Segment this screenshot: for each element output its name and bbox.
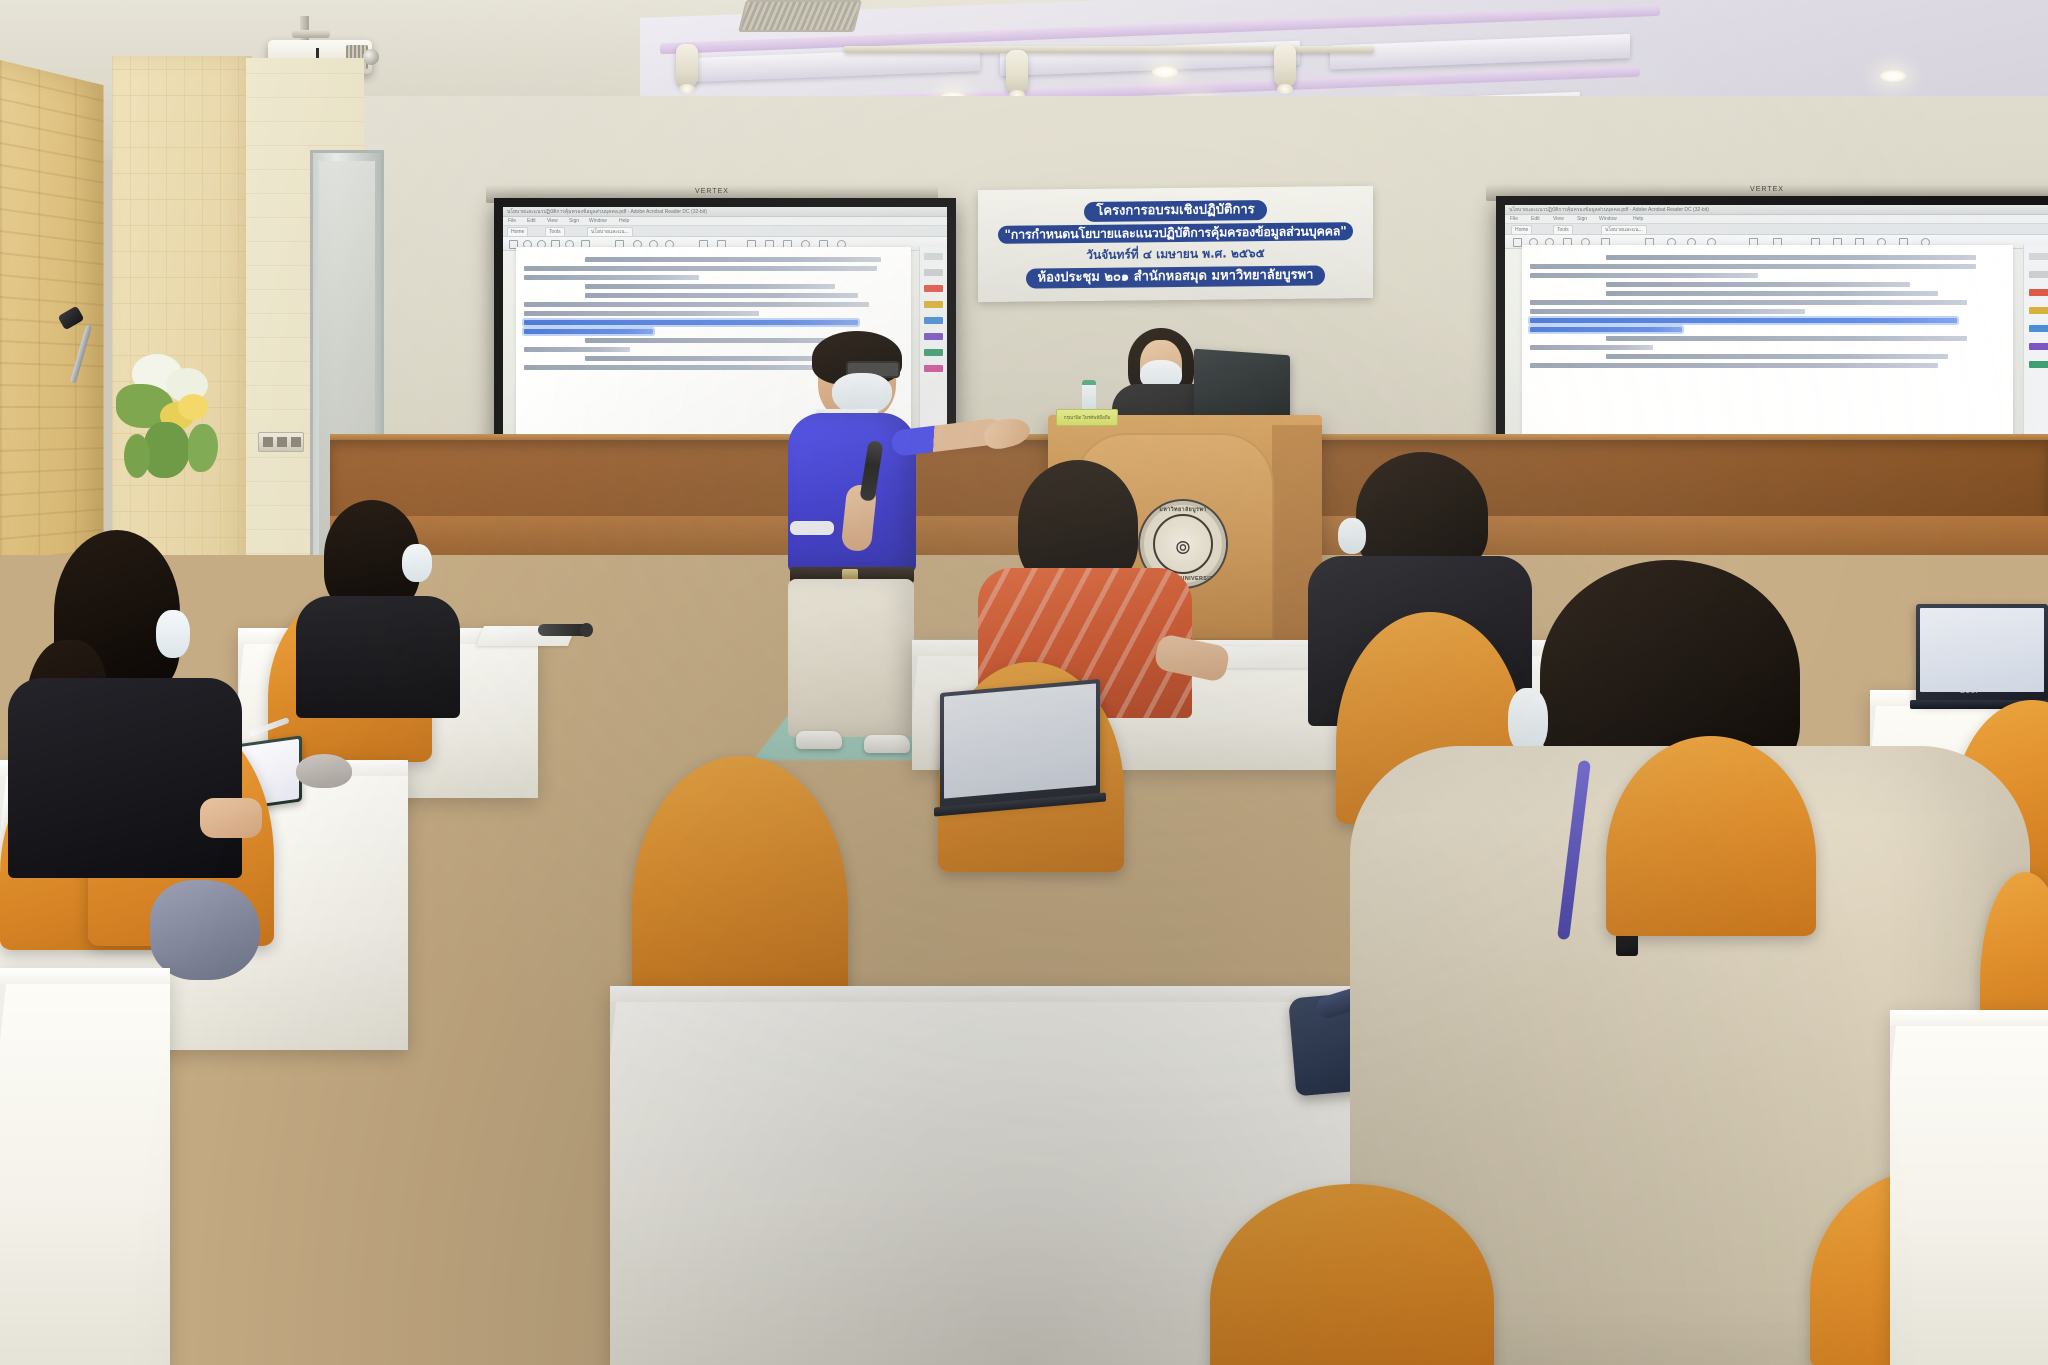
podium-notice-sign: กรุณาปิด โทรศัพท์มือถือ	[1056, 409, 1118, 426]
table-front-right	[1890, 1010, 2048, 1365]
face-mask-icon	[402, 544, 432, 582]
wall-outlet[interactable]	[258, 432, 304, 452]
pdf-menubar: File Edit View Sign Window Help	[503, 217, 947, 226]
projector-lens	[363, 49, 379, 65]
menu-window[interactable]: Window	[1599, 216, 1617, 222]
attendee-2	[292, 500, 462, 700]
banner-line-1: โครงการอบรมเชิงปฏิบัติการ	[1084, 200, 1266, 221]
ac-vent	[738, 0, 862, 32]
tab-tools[interactable]: Tools	[1553, 225, 1573, 235]
grey-pouch	[296, 754, 352, 788]
mic-neck	[70, 324, 92, 383]
attendee-torso	[296, 596, 460, 718]
mic-capsule-icon	[57, 306, 84, 331]
downlight	[1152, 66, 1178, 78]
presenter-shoe-left	[796, 731, 842, 749]
banner-line-2: "การกำหนดนโยบายและแนวปฏิบัติการคุ้มครองข…	[998, 222, 1352, 245]
pdf-menubar: File Edit View Sign Window Help	[1505, 215, 2048, 224]
laptop-screen	[944, 683, 1096, 798]
tab-home[interactable]: Home	[507, 227, 528, 237]
flower-arrangement	[108, 350, 238, 490]
face-mask-icon	[156, 610, 190, 658]
projector-arm	[292, 30, 330, 38]
track-light[interactable]	[1274, 44, 1296, 88]
track-light[interactable]	[1006, 50, 1028, 94]
rail-icon-edit[interactable]	[2029, 289, 2048, 296]
pdf-tabbar: Home Tools นโยบายและแน...	[1505, 224, 2048, 235]
track-light[interactable]	[676, 44, 698, 88]
table-front-left	[0, 968, 170, 1365]
pdf-document-title: นโยบายและแนวปฏิบัติการคุ้มครองข้อมูลส่วน…	[507, 208, 707, 216]
rail-icon-create[interactable]	[2029, 271, 2048, 278]
seminar-room-photo: VERTEX นโยบายและแนวปฏิบัติการคุ้มครองข้อ…	[0, 0, 2048, 1365]
tab-tools[interactable]: Tools	[545, 227, 565, 237]
screen-brand-label: VERTEX	[1750, 186, 1784, 193]
rail-icon-comment[interactable]	[2029, 307, 2048, 314]
attendee-torso	[8, 678, 242, 878]
rail-icon-combine[interactable]	[924, 317, 943, 324]
presenter-shoe-right	[864, 735, 910, 753]
table-top	[1890, 1010, 2048, 1026]
attendee-1	[8, 530, 258, 850]
pdf-titlebar: นโยบายและแนวปฏิบัติการคุ้มครองข้อมูลส่วน…	[503, 207, 947, 217]
laptop-centre[interactable]	[940, 679, 1100, 809]
tablecloth	[1890, 1026, 2048, 1365]
banner-line-4: ห้องประชุม ๒๐๑ สำนักหอสมุด มหาวิทยาลัยบู…	[1026, 266, 1326, 289]
menu-file[interactable]: File	[1510, 216, 1518, 222]
banner-line-3: วันจันทร์ที่ ๔ เมษายน พ.ศ. ๒๕๖๕	[1086, 245, 1264, 266]
rail-icon-export[interactable]	[2029, 253, 2048, 260]
pdf-document-title: นโยบายและแนวปฏิบัติการคุ้มครองข้อมูลส่วน…	[1509, 206, 1709, 214]
rail-icon-export[interactable]	[924, 253, 943, 260]
face-mask-icon	[1508, 688, 1548, 754]
downlight	[1880, 70, 1906, 82]
event-banner: โครงการอบรมเชิงปฏิบัติการ "การกำหนดนโยบา…	[978, 186, 1373, 302]
menu-view[interactable]: View	[1553, 216, 1564, 222]
menu-edit[interactable]: Edit	[1531, 216, 1540, 222]
screen-brand-label: VERTEX	[695, 188, 729, 195]
menu-sign[interactable]: Sign	[1577, 216, 1587, 222]
rail-icon-combine[interactable]	[2029, 325, 2048, 332]
handheld-microphone[interactable]	[538, 624, 590, 636]
rail-icon-edit[interactable]	[924, 285, 943, 292]
attendee-hand	[200, 798, 262, 838]
rail-icon-create[interactable]	[924, 269, 943, 276]
menu-view[interactable]: View	[547, 218, 558, 224]
tab-document[interactable]: นโยบายและแน...	[587, 227, 633, 237]
tablecloth	[0, 984, 170, 1365]
presenter-sleeve-cuff	[790, 521, 834, 535]
pdf-titlebar: นโยบายและแนวปฏิบัติการคุ้มครองข้อมูลส่วน…	[1505, 205, 2048, 215]
pdf-tabbar: Home Tools นโยบายและแน...	[503, 226, 947, 237]
rail-icon-organize[interactable]	[2029, 343, 2048, 350]
face-mask-icon	[1338, 518, 1366, 554]
attendee-lap-item	[150, 880, 260, 980]
rail-icon-fill-sign[interactable]	[2029, 361, 2048, 368]
menu-sign[interactable]: Sign	[569, 218, 579, 224]
rail-icon-comment[interactable]	[924, 301, 943, 308]
menu-edit[interactable]: Edit	[527, 218, 536, 224]
presenter-trousers	[788, 579, 914, 737]
table-top	[0, 968, 170, 984]
tab-document[interactable]: นโยบายและแน...	[1601, 225, 1647, 235]
menu-file[interactable]: File	[508, 218, 516, 224]
menu-help[interactable]: Help	[619, 218, 629, 224]
tab-home[interactable]: Home	[1511, 225, 1532, 235]
menu-help[interactable]: Help	[1633, 216, 1643, 222]
menu-window[interactable]: Window	[589, 218, 607, 224]
